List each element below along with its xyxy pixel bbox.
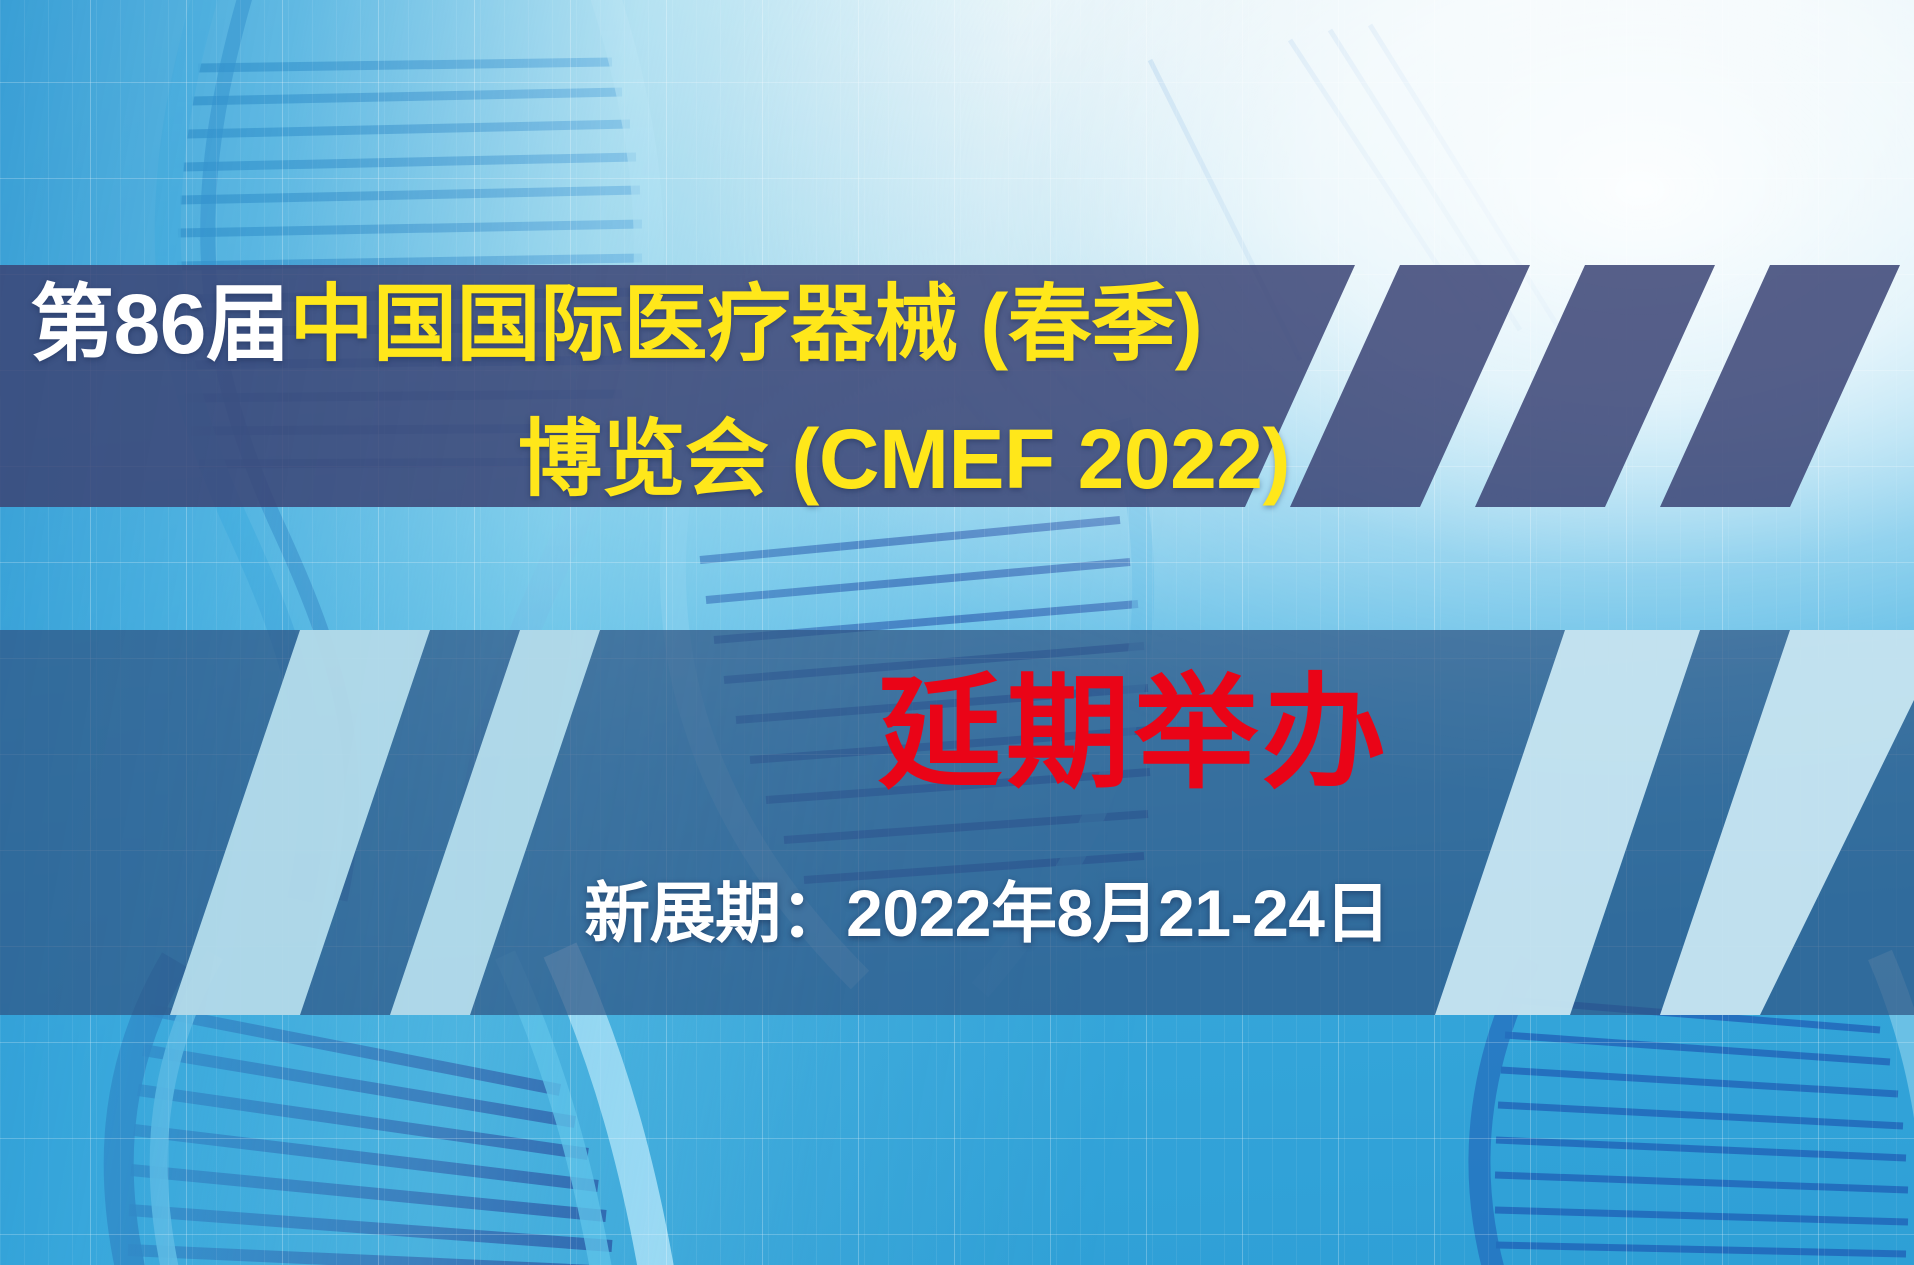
poster-canvas: 第86届中国国际医疗器械 (春季) 博览会 (CMEF 2022) 延期举办 新… [0, 0, 1914, 1265]
title-line-1: 第86届中国国际医疗器械 (春季) [30, 282, 1202, 366]
title-edition-number: 第86届 [30, 277, 289, 371]
title-main-name: 中国国际医疗器械 (春季) [289, 277, 1202, 371]
new-date-text: 新展期：2022年8月21-24日 [0, 880, 1390, 946]
title-line-2: 博览会 (CMEF 2022) [0, 417, 1290, 501]
postponement-headline: 延期举办 [0, 672, 1390, 796]
upper-banner-band [0, 0, 1914, 1265]
